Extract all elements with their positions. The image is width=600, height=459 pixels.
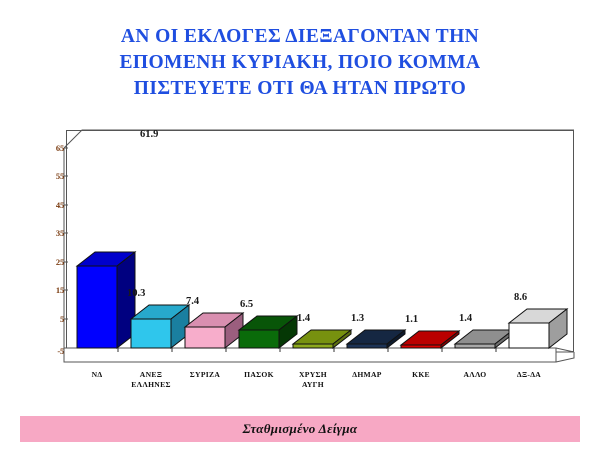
bar-kke bbox=[401, 331, 459, 348]
x-label-pasok: ΠΑΣΟΚ bbox=[236, 370, 282, 380]
bar-value-label: 10.3 bbox=[127, 288, 145, 299]
title-line-3: ΠΙΣΤΕΥΕΤΕ ΟΤΙ ΘΑ ΗΤΑΝ ΠΡΩΤΟ bbox=[0, 76, 600, 102]
x-axis-labels: ΝΔ ΑΝΕΞ ΕΛΛΗΝΕΣ ΣΥΡΙΖΑ ΠΑΣΟΚ ΧΡΥΣΗ ΑΥΓΗ … bbox=[22, 370, 578, 404]
bar-syriza bbox=[185, 313, 243, 348]
bar-value-label: 1.4 bbox=[459, 313, 472, 324]
x-label-dx-da: ΔΞ-ΔΑ bbox=[506, 370, 552, 380]
bar-nd bbox=[77, 252, 135, 348]
bar-allo bbox=[455, 330, 513, 348]
x-label-syriza: ΣΥΡΙΖΑ bbox=[182, 370, 228, 380]
bar-anex-ellines bbox=[131, 305, 189, 348]
x-label-nd: ΝΔ bbox=[77, 370, 117, 380]
bar-value-label: 7.4 bbox=[186, 296, 199, 307]
x-label-chrysi-avgi: ΧΡΥΣΗ ΑΥΓΗ bbox=[290, 370, 336, 389]
bar-value-label: 1.3 bbox=[351, 313, 364, 324]
title-line-2: ΕΠΟΜΕΝΗ ΚΥΡΙΑΚΗ, ΠΟΙΟ ΚΟΜΜΑ bbox=[0, 50, 600, 76]
title-line-1: ΑΝ ΟΙ ΕΚΛΟΓΕΣ ΔΙΕΞΑΓΟΝΤΑΝ ΤΗΝ bbox=[0, 24, 600, 50]
poll-chart-page: ΑΝ ΟΙ ΕΚΛΟΓΕΣ ΔΙΕΞΑΓΟΝΤΑΝ ΤΗΝ ΕΠΟΜΕΝΗ ΚΥ… bbox=[0, 0, 600, 459]
bar-value-label: 6.5 bbox=[240, 299, 253, 310]
footer-label: Σταθμισμένο Δείγμα bbox=[243, 421, 358, 437]
page-title: ΑΝ ΟΙ ΕΚΛΟΓΕΣ ΔΙΕΞΑΓΟΝΤΑΝ ΤΗΝ ΕΠΟΜΕΝΗ ΚΥ… bbox=[0, 24, 600, 102]
bar-chart: 65 55 45 35 25 15 5 -5 bbox=[22, 122, 578, 374]
bar-value-label: 8.6 bbox=[514, 292, 527, 303]
bar-series bbox=[22, 122, 578, 374]
bar-chrysi-avgi bbox=[293, 330, 351, 348]
bar-dx-da bbox=[509, 309, 567, 348]
bar-value-label: 61.9 bbox=[140, 129, 158, 140]
bar-dimar bbox=[347, 330, 405, 348]
x-label-kke: ΚΚΕ bbox=[398, 370, 444, 380]
x-label-dimar: ΔΗΜΑΡ bbox=[344, 370, 390, 380]
bar-value-label: 1.4 bbox=[297, 313, 310, 324]
bar-value-label: 1.1 bbox=[405, 314, 418, 325]
x-label-allo: ΑΛΛΟ bbox=[452, 370, 498, 380]
x-label-anex-ellines: ΑΝΕΞ ΕΛΛΗΝΕΣ bbox=[125, 370, 177, 389]
footer-banner: Σταθμισμένο Δείγμα bbox=[20, 416, 580, 442]
bar-pasok bbox=[239, 316, 297, 348]
